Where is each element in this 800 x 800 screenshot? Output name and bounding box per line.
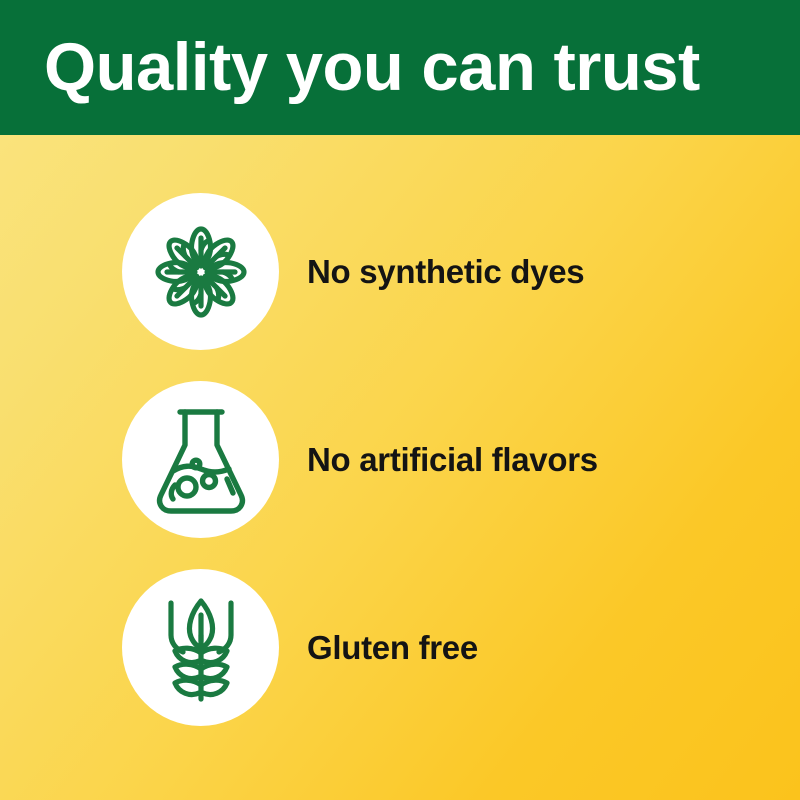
icon-badge [122, 193, 279, 350]
flower-burst-icon [145, 216, 257, 328]
page-title: Quality you can trust [44, 25, 759, 109]
feature-item-no-artificial-flavors: No artificial flavors [0, 366, 800, 554]
feature-item-no-synthetic-dyes: No synthetic dyes [0, 178, 800, 366]
feature-item-gluten-free: Gluten free [0, 554, 800, 742]
feature-label: No synthetic dyes [307, 178, 584, 366]
icon-badge [122, 569, 279, 726]
flask-icon [147, 403, 255, 517]
icon-badge [122, 381, 279, 538]
quality-claims-poster: Quality you can trust [0, 0, 800, 800]
feature-label: Gluten free [307, 554, 478, 742]
feature-label: No artificial flavors [307, 366, 598, 554]
header-banner: Quality you can trust [0, 0, 800, 135]
feature-list: No synthetic dyes [0, 135, 800, 800]
wheat-icon [149, 589, 253, 707]
